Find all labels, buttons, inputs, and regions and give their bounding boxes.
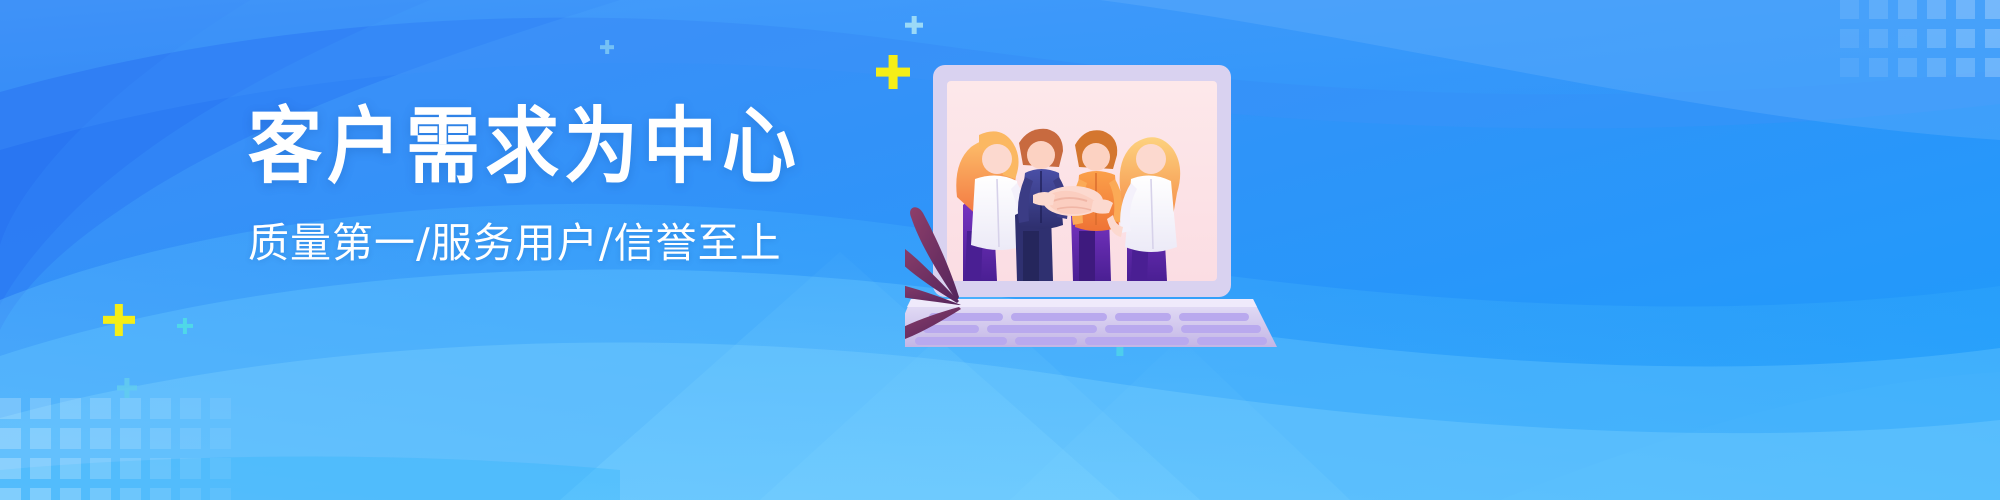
laptop-keyboard [915, 313, 1267, 345]
square-grid-bottom-left [0, 398, 231, 500]
plus-yellow-bottom-icon [103, 304, 135, 336]
banner-text-block: 客户需求为中心 质量第一/服务用户/信誉至上 [248, 100, 868, 268]
plus-cyan-top-icon [905, 16, 923, 34]
laptop-team-illustration [905, 55, 1325, 355]
square-grid-top-right [1840, 0, 2000, 77]
banner-subtitle: 质量第一/服务用户/信誉至上 [248, 218, 868, 268]
plus-cyan-mid-icon [600, 40, 614, 54]
promo-banner: 客户需求为中心 质量第一/服务用户/信誉至上 [0, 0, 2000, 500]
banner-headline: 客户需求为中心 [248, 100, 868, 194]
plus-cyan-bottom-small-icon [177, 318, 193, 334]
plus-cyan-bottom-mid-icon [117, 378, 137, 398]
